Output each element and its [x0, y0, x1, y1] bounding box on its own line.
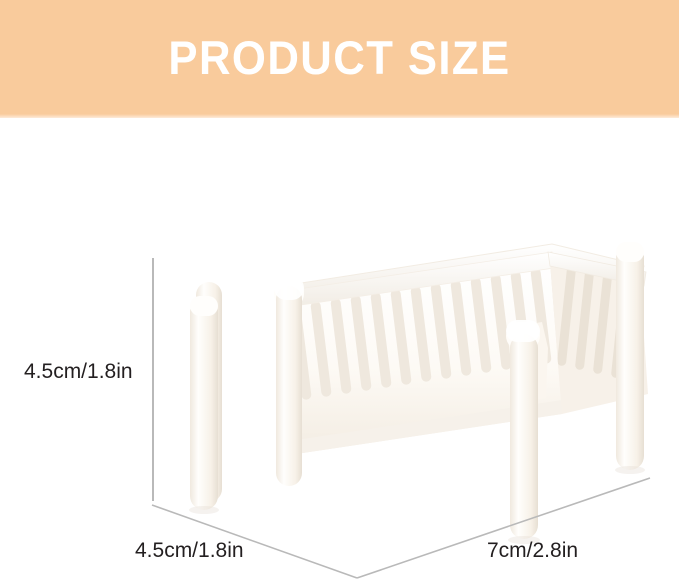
side-depth-dimension-label: 7cm/2.8in — [487, 539, 578, 563]
height-dimension-line — [152, 258, 154, 501]
basket-front-left-post — [274, 276, 304, 486]
front-width-dimension-label: 4.5cm/1.8in — [135, 539, 244, 563]
height-dimension-label: 4.5cm/1.8in — [24, 360, 133, 384]
basket-front-right-post — [506, 320, 548, 539]
header-banner: PRODUCT SIZE — [0, 0, 679, 118]
basket-right-rear-leg — [616, 242, 644, 470]
product-photo — [0, 118, 679, 582]
basket-shadows — [189, 466, 645, 544]
page-title: PRODUCT SIZE — [24, 0, 655, 118]
basket-front-left-leg — [190, 296, 218, 510]
product-size-infographic: PRODUCT SIZE — [0, 0, 679, 582]
basket-illustration — [170, 218, 670, 548]
